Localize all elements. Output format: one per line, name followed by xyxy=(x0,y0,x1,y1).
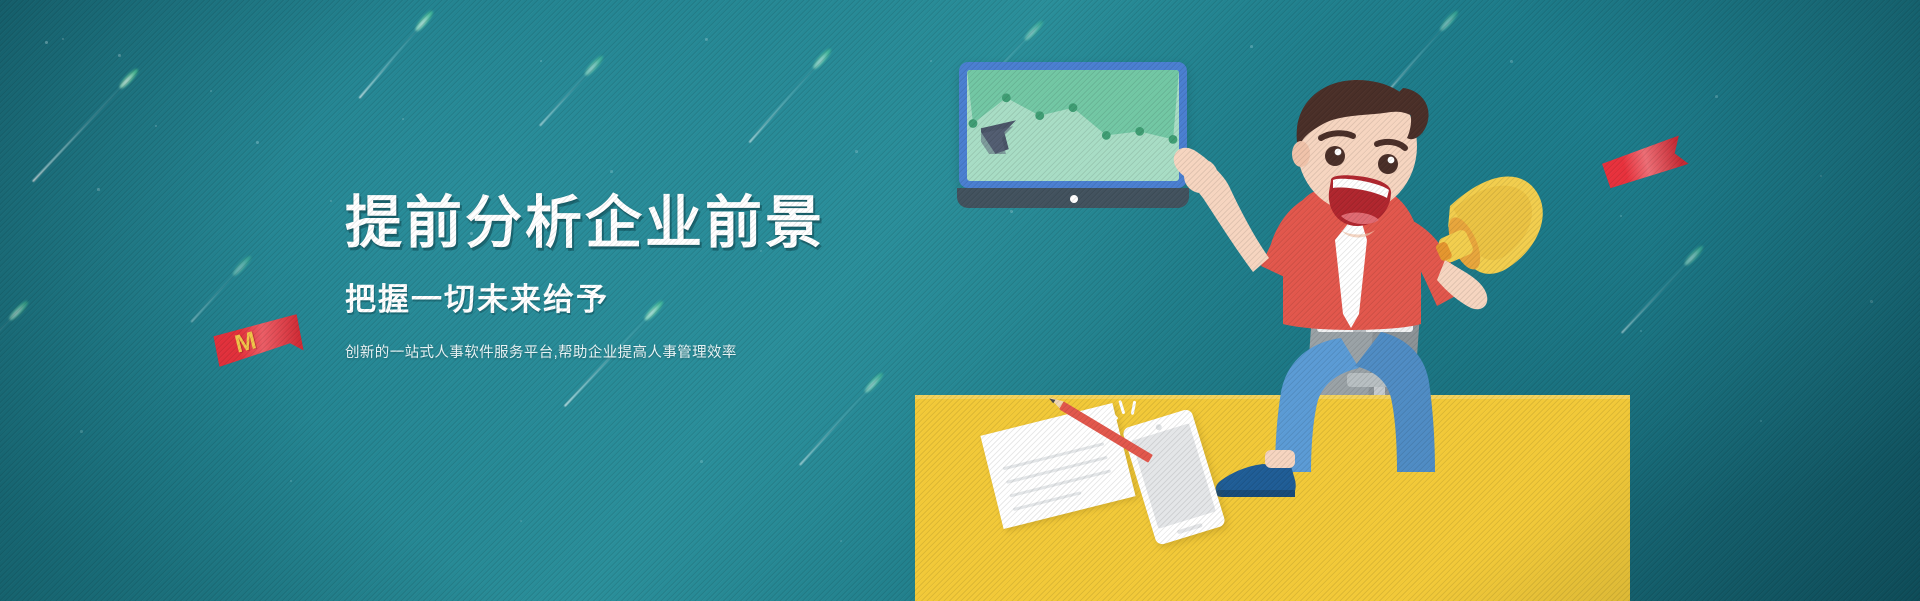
phone-camera-icon xyxy=(1155,424,1162,431)
star-dot xyxy=(855,150,858,153)
star-dot xyxy=(155,125,157,127)
chart-data-point xyxy=(1069,103,1078,112)
monitor-power-dot-icon xyxy=(1070,195,1078,203)
chart-data-point xyxy=(1002,93,1011,102)
star-dot xyxy=(1250,45,1253,48)
star-dot xyxy=(402,118,404,120)
star-dot xyxy=(540,60,542,62)
hero-banner: M 提前分析企业前景 把握一切未来给予 创新的一站式人事软件服务平台,帮助企业提… xyxy=(0,0,1920,601)
star-dot xyxy=(1010,210,1013,213)
star-dot xyxy=(700,460,703,463)
ribbon-cloth xyxy=(1601,135,1688,190)
businessman-character xyxy=(1145,80,1565,500)
page-caption: 创新的一站式人事软件服务平台,帮助企业提高人事管理效率 xyxy=(345,341,825,362)
star-dot xyxy=(1640,330,1642,332)
page-title: 提前分析企业前景 xyxy=(345,193,825,255)
chart-data-point xyxy=(1035,111,1044,120)
arrow-pointer-icon xyxy=(981,106,1031,159)
meteor-streak xyxy=(0,301,28,400)
meteor-streak xyxy=(356,11,433,100)
star-dot xyxy=(45,41,48,44)
star-dot xyxy=(1870,300,1873,303)
meteor-streak xyxy=(1619,246,1703,336)
chart-data-point xyxy=(1135,127,1144,136)
hero-copy: 提前分析企业前景 把握一切未来给予 创新的一站式人事软件服务平台,帮助企业提高人… xyxy=(345,193,825,362)
ribbon-badge-left: M xyxy=(212,314,303,367)
star-dot xyxy=(330,200,332,202)
meteor-streak xyxy=(188,256,251,325)
paper-line xyxy=(1003,442,1105,470)
star-dot xyxy=(1510,60,1513,63)
meteor-streak xyxy=(797,373,883,468)
paper-line xyxy=(1006,456,1108,484)
meteor-streak xyxy=(746,49,831,145)
page-subtitle: 把握一切未来给予 xyxy=(345,274,825,319)
paper-line xyxy=(1009,469,1111,497)
chart-data-point xyxy=(1102,131,1111,140)
star-dot xyxy=(62,38,64,40)
star-dot xyxy=(256,141,259,144)
star-dot xyxy=(1760,420,1762,422)
ribbon-badge-right xyxy=(1601,135,1688,190)
star-dot xyxy=(210,90,212,92)
star-dot xyxy=(80,430,83,433)
star-dot xyxy=(118,54,121,57)
star-dot xyxy=(610,170,613,173)
meteor-streak xyxy=(30,69,138,184)
star-dot xyxy=(290,480,292,482)
star-dot xyxy=(1620,215,1622,217)
meteor-streak xyxy=(537,56,603,128)
star-dot xyxy=(930,60,932,62)
chart-data-point xyxy=(969,119,978,128)
star-dot xyxy=(705,38,708,41)
star-dot xyxy=(97,188,100,191)
star-dot xyxy=(520,520,522,522)
star-dot xyxy=(840,540,842,542)
ribbon-cloth xyxy=(212,314,303,367)
phone-home-bar xyxy=(1177,523,1203,534)
star-dot xyxy=(1820,175,1822,177)
star-dot xyxy=(1715,95,1718,98)
